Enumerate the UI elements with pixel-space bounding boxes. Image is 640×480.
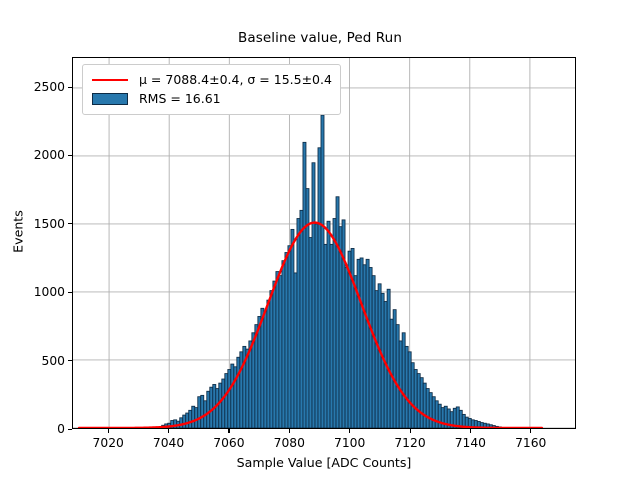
- y-tick-mark: [68, 223, 72, 224]
- legend-line-swatch: [90, 73, 130, 87]
- y-tick-mark: [68, 155, 72, 156]
- x-tick-label: 7080: [274, 436, 305, 450]
- x-tick-label: 7160: [515, 436, 546, 450]
- chart-figure: Baseline value, Ped Run 7020704070607080…: [0, 0, 640, 480]
- x-tick-label: 7120: [394, 436, 425, 450]
- y-tick-mark: [68, 360, 72, 361]
- x-tick-mark: [289, 429, 290, 433]
- chart-legend[interactable]: μ = 7088.4±0.4, σ = 15.5±0.4 RMS = 16.61: [82, 64, 341, 115]
- legend-label-histogram: RMS = 16.61: [139, 91, 221, 106]
- x-tick-label: 7020: [93, 436, 124, 450]
- x-tick-mark: [530, 429, 531, 433]
- y-tick-label: 2500: [8, 80, 65, 94]
- x-tick-mark: [108, 429, 109, 433]
- x-tick-mark: [410, 429, 411, 433]
- chart-title: Baseline value, Ped Run: [0, 30, 640, 46]
- x-tick-label: 7040: [153, 436, 184, 450]
- legend-item-fit[interactable]: μ = 7088.4±0.4, σ = 15.5±0.4: [90, 70, 332, 89]
- x-axis-label: Sample Value [ADC Counts]: [72, 455, 576, 470]
- x-tick-mark: [228, 429, 229, 433]
- legend-label-fit: μ = 7088.4±0.4, σ = 15.5±0.4: [139, 72, 332, 87]
- y-axis-label: Events: [11, 132, 26, 332]
- x-tick-label: 7100: [334, 436, 365, 450]
- x-tick-label: 7140: [455, 436, 486, 450]
- x-tick-mark: [349, 429, 350, 433]
- x-tick-mark: [470, 429, 471, 433]
- legend-patch-swatch: [90, 92, 130, 106]
- legend-item-histogram[interactable]: RMS = 16.61: [90, 89, 332, 108]
- y-tick-label: 500: [8, 354, 65, 368]
- y-tick-mark: [68, 429, 72, 430]
- y-tick-mark: [68, 292, 72, 293]
- y-tick-label: 0: [8, 422, 65, 436]
- x-tick-mark: [168, 429, 169, 433]
- x-tick-label: 7060: [213, 436, 244, 450]
- y-tick-mark: [68, 87, 72, 88]
